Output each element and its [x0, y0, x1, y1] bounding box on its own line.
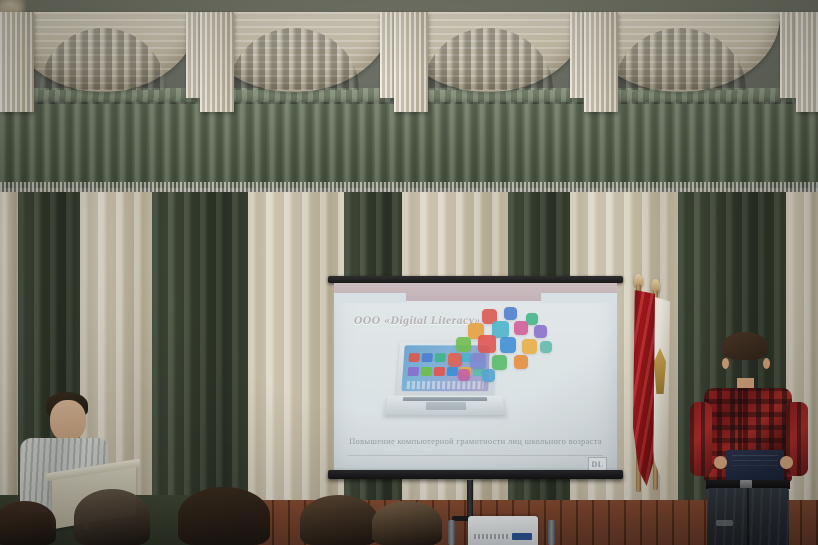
cloud-app-icon-16: [514, 355, 528, 369]
laptop-keyboard: [403, 397, 488, 401]
slide-band-notch-left: [334, 293, 406, 303]
cloud-app-icon-11: [522, 339, 537, 354]
screen-tripod-post: [467, 480, 473, 520]
cloud-app-icon-14: [470, 353, 486, 369]
cloud-app-icon-2: [504, 307, 517, 320]
flag-emblem: [654, 348, 666, 394]
presenter-ear-right: [763, 358, 770, 369]
presenter-arm-left: [690, 402, 712, 476]
slide-subtitle: Повышение компьютерной грамотности лиц ш…: [342, 436, 609, 446]
lectern-person-head: [50, 400, 86, 442]
cloud-app-icon-6: [514, 321, 528, 335]
presenter-hand-left: [714, 456, 727, 469]
cloud-app-icon-13: [448, 353, 462, 367]
slide-logo-dl: DL: [588, 457, 607, 471]
audience-head-3: [178, 487, 270, 545]
slide-band-notch-right: [541, 293, 617, 303]
laptop-app-icon-2: [421, 353, 432, 362]
screen-bottom-bar: [328, 470, 623, 479]
valance-jabot-9: [796, 12, 818, 112]
projector-stand-leg-right: [548, 520, 555, 545]
laptop-app-icon-1: [408, 353, 420, 362]
laptop-base: [384, 396, 506, 415]
presenter-folder: [726, 450, 784, 480]
valance-pleats: [0, 102, 818, 188]
presenter-ear-left: [722, 358, 729, 369]
projector-label: [512, 533, 532, 540]
audience-head-4: [300, 495, 378, 545]
cloud-app-icon-7: [534, 325, 547, 338]
valance-jabot-1: [0, 12, 34, 112]
presenter-hand-right: [780, 456, 793, 469]
audience-head-5: [372, 501, 442, 545]
panel-green-mid-left: [152, 192, 248, 522]
cloud-app-icon-15: [492, 355, 507, 370]
screen-surface: ООО «Digital Literacy» Повышение компьют…: [334, 283, 617, 471]
presenter-jeans-rip: [716, 520, 733, 526]
projector-vent: [474, 534, 508, 539]
projector: [468, 516, 538, 545]
slide-app-icon-cloud: [442, 307, 557, 392]
laptop-app-icon-7: [408, 367, 420, 376]
cloud-app-icon-9: [478, 335, 496, 353]
audience-head-1: [0, 501, 56, 545]
projector-stand-leg-left: [448, 520, 455, 545]
slide-top-band: [334, 283, 617, 301]
valance-jabot-3: [200, 12, 234, 112]
audience-heads: [0, 487, 420, 545]
slide-divider-rule: [348, 455, 603, 456]
standing-presenter: [690, 330, 818, 545]
projection-screen: ООО «Digital Literacy» Повышение компьют…: [334, 276, 617, 478]
cloud-app-icon-10: [500, 337, 516, 353]
presenter-jeans-seam: [747, 488, 749, 545]
valance-jabot-7: [584, 12, 618, 112]
audience-head-2: [74, 489, 150, 545]
cloud-app-icon-12: [540, 341, 552, 353]
laptop-app-icon-8: [421, 367, 433, 376]
screen-top-bar: [328, 276, 623, 283]
cloud-app-icon-18: [458, 369, 470, 381]
valance-jabot-5: [394, 12, 428, 112]
cloud-app-icon-17: [482, 369, 495, 382]
cloud-app-icon-8: [456, 337, 471, 352]
auditorium-photo: ООО «Digital Literacy» Повышение компьют…: [0, 0, 818, 545]
laptop-trackpad: [426, 402, 467, 410]
